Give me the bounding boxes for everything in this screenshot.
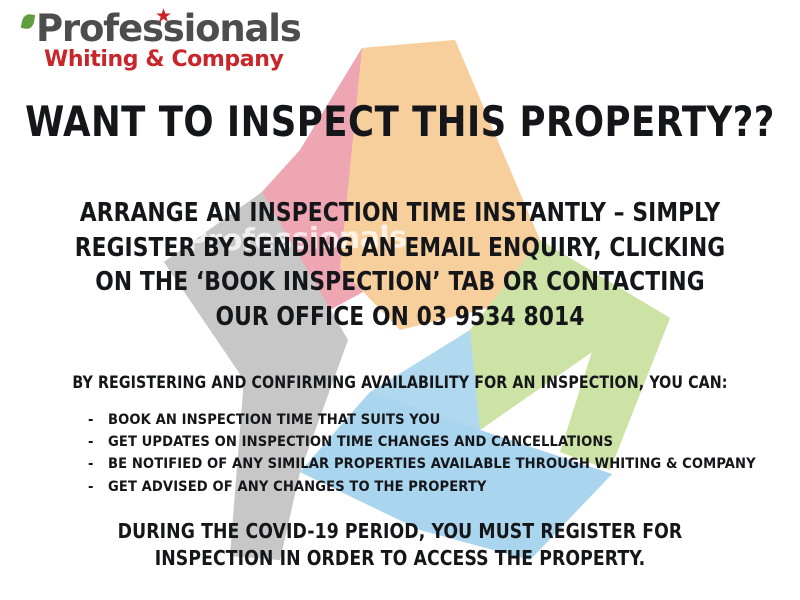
list-item-label: GET ADVISED OF ANY CHANGES TO THE PROPER… bbox=[108, 478, 487, 495]
list-item: -BOOK AN INSPECTION TIME THAT SUITS YOU bbox=[88, 409, 748, 431]
bullet-marker: - bbox=[88, 476, 108, 498]
bullet-marker: - bbox=[88, 409, 108, 431]
star-icon: ★ bbox=[155, 7, 171, 26]
list-item-label: BOOK AN INSPECTION TIME THAT SUITS YOU bbox=[108, 411, 440, 428]
leaf-icon bbox=[21, 13, 35, 30]
list-item: -GET ADVISED OF ANY CHANGES TO THE PROPE… bbox=[88, 476, 748, 498]
inspection-poster: Professionals Professionals ★ Whiting & … bbox=[0, 0, 800, 600]
benefits-intro: BY REGISTERING AND CONFIRMING AVAILABILI… bbox=[16, 373, 784, 392]
list-item-label: BE NOTIFIED OF ANY SIMILAR PROPERTIES AV… bbox=[108, 455, 756, 472]
list-item: -GET UPDATES ON INSPECTION TIME CHANGES … bbox=[88, 431, 748, 453]
bullet-marker: - bbox=[88, 431, 108, 453]
benefits-list: -BOOK AN INSPECTION TIME THAT SUITS YOU … bbox=[88, 409, 748, 498]
covid-notice: DURING THE COVID-19 PERIOD, YOU MUST REG… bbox=[74, 518, 727, 572]
intro-paragraph: ARRANGE AN INSPECTION TIME INSTANTLY – S… bbox=[68, 196, 733, 335]
list-item: -BE NOTIFIED OF ANY SIMILAR PROPERTIES A… bbox=[88, 453, 748, 475]
page-title: WANT TO INSPECT THIS PROPERTY?? bbox=[24, 100, 776, 144]
bullet-marker: - bbox=[88, 453, 108, 475]
logo-primary-text: Professionals ★ bbox=[22, 10, 301, 47]
logo-secondary-label: Whiting & Company bbox=[22, 49, 301, 71]
list-item-label: GET UPDATES ON INSPECTION TIME CHANGES A… bbox=[108, 433, 613, 450]
company-logo: Professionals ★ Whiting & Company bbox=[22, 10, 301, 71]
